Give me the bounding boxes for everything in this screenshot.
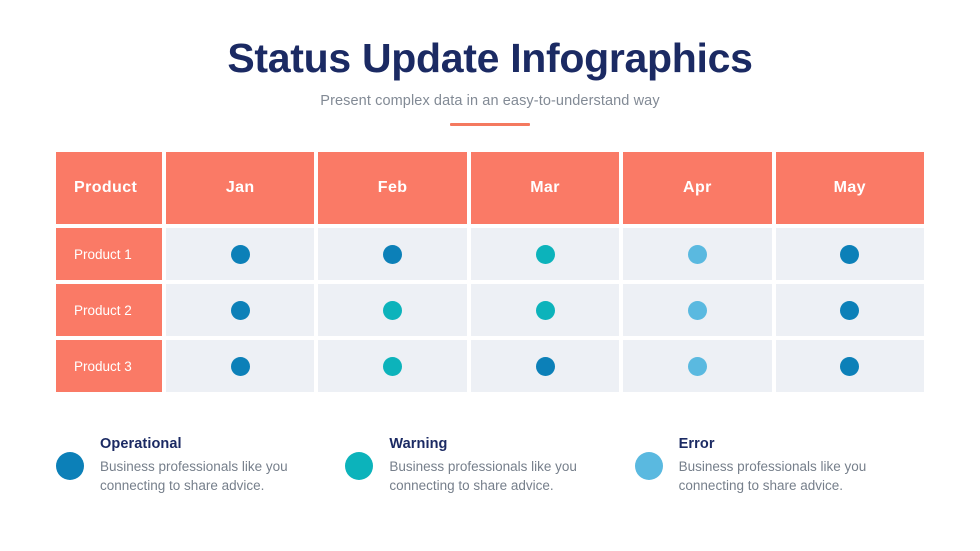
status-cell[interactable]	[776, 340, 924, 392]
status-dot-operational-icon	[231, 357, 250, 376]
column-header-feb: Feb	[318, 152, 466, 224]
legend-title: Operational	[100, 436, 315, 452]
status-dot-warning-icon	[383, 357, 402, 376]
page-title: Status Update Infographics	[0, 36, 980, 81]
legend-description: Business professionals like you connecti…	[389, 457, 604, 495]
column-header-product: Product	[56, 152, 162, 224]
status-dot-error-icon	[688, 301, 707, 320]
column-header-jan: Jan	[166, 152, 314, 224]
status-dot-warning-icon	[536, 301, 555, 320]
status-dot-operational-icon	[383, 245, 402, 264]
status-cell[interactable]	[471, 284, 619, 336]
table-header-row: ProductJanFebMarAprMay	[56, 152, 924, 224]
status-dot-operational-icon	[536, 357, 555, 376]
table-row: Product 3	[56, 340, 924, 392]
table-row: Product 2	[56, 284, 924, 336]
legend-description: Business professionals like you connecti…	[679, 457, 894, 495]
legend-title: Warning	[389, 436, 604, 452]
slide-canvas: Status Update Infographics Present compl…	[0, 0, 980, 551]
status-cell[interactable]	[166, 228, 314, 280]
column-header-may: May	[776, 152, 924, 224]
status-dot-operational-icon	[231, 301, 250, 320]
title-divider	[450, 123, 530, 126]
column-header-mar: Mar	[471, 152, 619, 224]
status-cell[interactable]	[623, 228, 771, 280]
status-dot-error-icon	[688, 357, 707, 376]
legend-dot-operational-icon	[56, 452, 84, 480]
status-dot-error-icon	[688, 245, 707, 264]
legend-title: Error	[679, 436, 894, 452]
status-dot-operational-icon	[840, 301, 859, 320]
legend-text: ErrorBusiness professionals like you con…	[679, 436, 894, 495]
legend-item-warning[interactable]: WarningBusiness professionals like you c…	[345, 436, 634, 495]
status-cell[interactable]	[166, 340, 314, 392]
legend-item-error[interactable]: ErrorBusiness professionals like you con…	[635, 436, 924, 495]
status-cell[interactable]	[471, 228, 619, 280]
legend-text: OperationalBusiness professionals like y…	[100, 436, 315, 495]
table-row: Product 1	[56, 228, 924, 280]
status-dot-operational-icon	[840, 357, 859, 376]
status-cell[interactable]	[776, 228, 924, 280]
status-cell[interactable]	[623, 284, 771, 336]
status-cell[interactable]	[471, 340, 619, 392]
status-table: ProductJanFebMarAprMayProduct 1Product 2…	[56, 152, 924, 392]
legend: OperationalBusiness professionals like y…	[56, 436, 924, 495]
status-cell[interactable]	[623, 340, 771, 392]
status-cell[interactable]	[318, 340, 466, 392]
legend-dot-warning-icon	[345, 452, 373, 480]
status-cell[interactable]	[166, 284, 314, 336]
row-label: Product 2	[56, 284, 162, 336]
status-dot-operational-icon	[840, 245, 859, 264]
row-label: Product 3	[56, 340, 162, 392]
slide-header: Status Update Infographics Present compl…	[0, 0, 980, 126]
row-label: Product 1	[56, 228, 162, 280]
page-subtitle: Present complex data in an easy-to-under…	[0, 93, 980, 109]
status-cell[interactable]	[318, 284, 466, 336]
status-cell[interactable]	[318, 228, 466, 280]
legend-description: Business professionals like you connecti…	[100, 457, 315, 495]
status-cell[interactable]	[776, 284, 924, 336]
column-header-apr: Apr	[623, 152, 771, 224]
status-dot-warning-icon	[536, 245, 555, 264]
status-table-container: ProductJanFebMarAprMayProduct 1Product 2…	[56, 152, 924, 392]
status-dot-warning-icon	[383, 301, 402, 320]
legend-dot-error-icon	[635, 452, 663, 480]
legend-item-operational[interactable]: OperationalBusiness professionals like y…	[56, 436, 345, 495]
status-dot-operational-icon	[231, 245, 250, 264]
legend-text: WarningBusiness professionals like you c…	[389, 436, 604, 495]
